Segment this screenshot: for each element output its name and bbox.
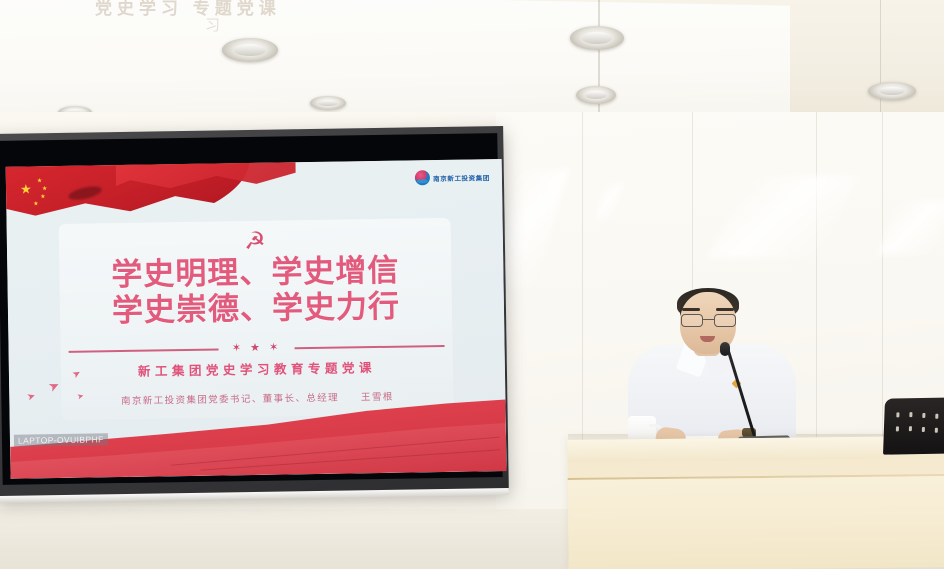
- eyebrow: [682, 308, 700, 311]
- party-emblem-icon: ☭: [242, 229, 268, 255]
- downlight-icon: [222, 38, 278, 62]
- bird-icon: ➤: [48, 380, 62, 394]
- logo-text: 南京新工投资集团: [433, 172, 490, 183]
- wall-reflection: [877, 200, 944, 254]
- podium: [567, 436, 944, 569]
- bird-icon: ➤: [76, 391, 85, 402]
- downlight-icon: [310, 96, 346, 110]
- downlight-icon: [576, 86, 616, 104]
- divider-stars: ✶ ★ ✶: [232, 340, 282, 357]
- office-chair: [883, 397, 944, 454]
- eyebrow: [716, 308, 734, 311]
- screen-letterbox: ★ ★ ★ ★ ★ 南京新工投资集团 ☭ 学史明理、学史增信 学史崇德、学史力行: [0, 133, 503, 485]
- wall-reflection: [596, 184, 623, 220]
- slide-title: 学史明理、学史增信 学史崇德、学史力行: [7, 251, 504, 331]
- birds-group: ➤ ➤ ➤ ➤: [27, 365, 108, 408]
- flag-star-icon: ★: [37, 178, 42, 184]
- downlight-icon: [570, 26, 624, 50]
- glasses-icon: [681, 314, 736, 327]
- photo-scene: 党史学习 专题党课 习 ★ ★: [0, 0, 944, 569]
- projection-screen[interactable]: ★ ★ ★ ★ ★ 南京新工投资集团 ☭ 学史明理、学史增信 学史崇德、学史力行: [0, 126, 509, 498]
- microphone-icon: [720, 342, 730, 356]
- chair-perforations: [891, 409, 944, 444]
- screen-watermark: LAPTOP-OVUIBPHF: [14, 433, 108, 446]
- ceiling: 党史学习 专题党课 习: [0, 0, 944, 130]
- podium-front-panel: [568, 476, 944, 569]
- company-logo: 南京新工投资集团: [415, 169, 490, 185]
- flag-star-icon: ★: [33, 201, 38, 207]
- bird-icon: ➤: [26, 391, 37, 403]
- bird-icon: ➤: [71, 368, 83, 381]
- presenter-name: 王雪根: [361, 392, 394, 404]
- flag-star-icon: ★: [40, 194, 45, 200]
- logo-mark-icon: [415, 170, 430, 185]
- ceiling-seam: [880, 0, 881, 120]
- ceiling-banner-subtext: 习: [205, 14, 275, 36]
- downlight-icon: [868, 82, 916, 100]
- flag-star-icon: ★: [42, 186, 47, 192]
- presenter-figure: [620, 288, 800, 456]
- slide-content: ★ ★ ★ ★ ★ 南京新工投资集团 ☭ 学史明理、学史增信 学史崇德、学史力行: [6, 159, 507, 479]
- ceiling-seam: [598, 0, 600, 128]
- wall-reflection: [706, 176, 860, 258]
